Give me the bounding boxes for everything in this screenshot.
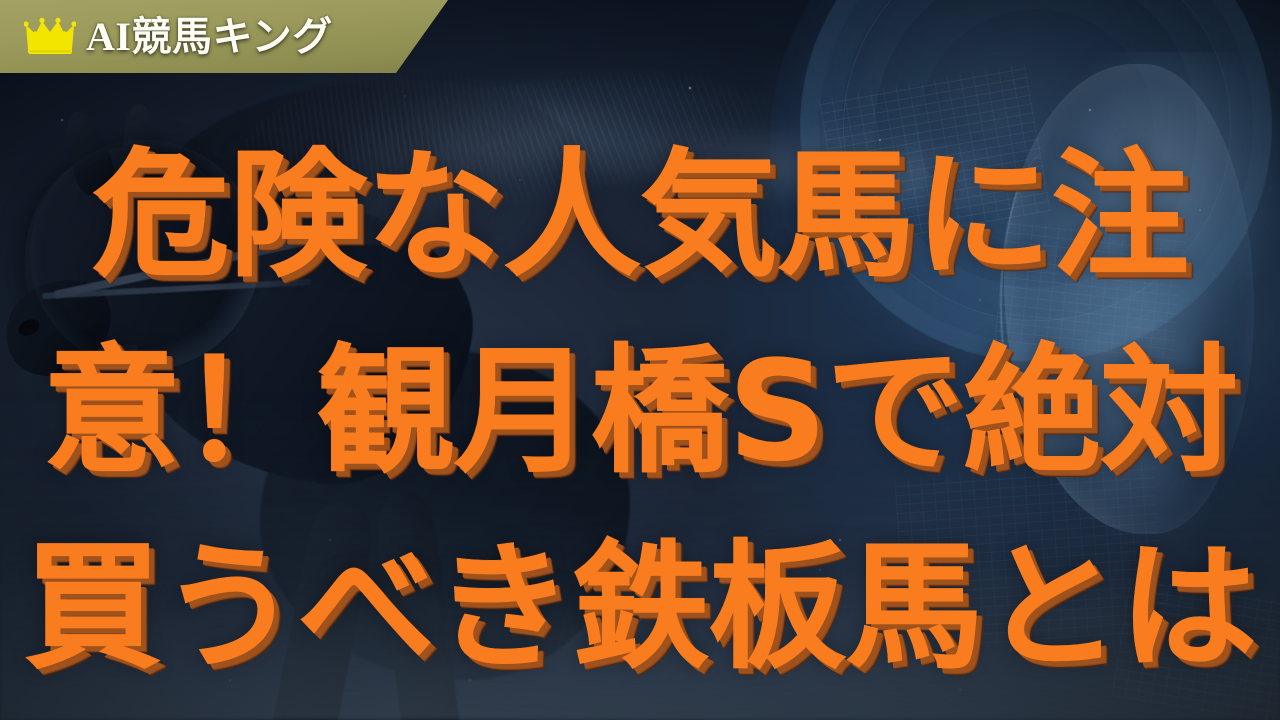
- vignette-overlay: [0, 0, 1280, 720]
- crown-icon: [24, 17, 76, 57]
- brand-title: AI競馬キング: [86, 17, 333, 57]
- thumbnail-canvas: AI競馬キング 危険な人気馬に注 意！観月橋Sで絶対 買うべき鉄板馬とは: [0, 0, 1280, 720]
- brand-banner: AI競馬キング: [0, 0, 448, 73]
